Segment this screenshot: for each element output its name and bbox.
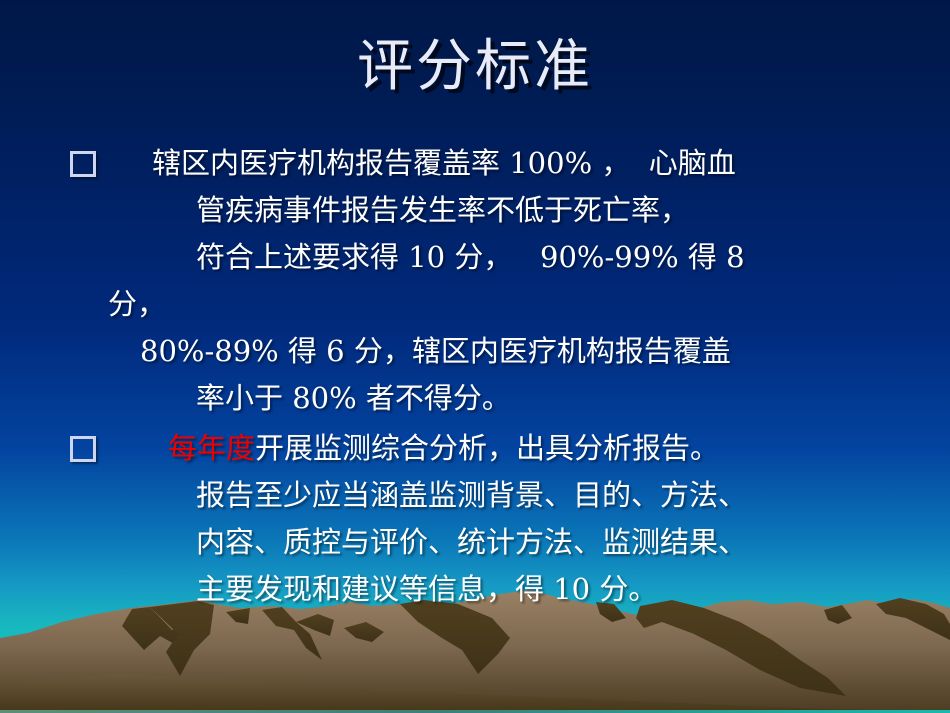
bullet-paragraph-2: 每年度开展监测综合分析，出具分析报告。 报告至少应当涵盖监测背景、目的、方法、 … (0, 425, 950, 613)
text-line: 辖区内医疗机构报告覆盖率 100% ， 心脑血 (0, 140, 950, 187)
text-line: 符合上述要求得 10 分， 90%-99% 得 8 (0, 234, 950, 281)
text-line: 每年度开展监测综合分析，出具分析报告。 (0, 425, 950, 472)
emphasis-text-red: 每年度 (168, 431, 255, 465)
bullet-2-lines: 每年度开展监测综合分析，出具分析报告。 报告至少应当涵盖监测背景、目的、方法、 … (0, 425, 950, 613)
page-title: 评分标准 (0, 38, 950, 97)
slide-body: 辖区内医疗机构报告覆盖率 100% ， 心脑血 管疾病事件报告发生率不低于死亡率… (0, 140, 950, 613)
text-line: 管疾病事件报告发生率不低于死亡率， (0, 187, 950, 234)
text-line: 分， (0, 281, 950, 328)
text-line-rest: 开展监测综合分析，出具分析报告。 (255, 431, 719, 465)
hollow-square-bullet-icon (70, 151, 96, 177)
presentation-slide: 评分标准 辖区内医疗机构报告覆盖率 100% ， 心脑血 管疾病事件报告发生率不… (0, 0, 950, 713)
hollow-square-bullet-icon (70, 436, 96, 462)
text-line: 主要发现和建议等信息，得 10 分。 (0, 566, 950, 613)
bullet-paragraph-1: 辖区内医疗机构报告覆盖率 100% ， 心脑血 管疾病事件报告发生率不低于死亡率… (0, 140, 950, 422)
text-line: 80%-89% 得 6 分，辖区内医疗机构报告覆盖 (0, 328, 950, 375)
text-line: 内容、质控与评价、统计方法、监测结果、 (0, 519, 950, 566)
text-line: 率小于 80% 者不得分。 (0, 375, 950, 422)
bullet-1-lines: 辖区内医疗机构报告覆盖率 100% ， 心脑血 管疾病事件报告发生率不低于死亡率… (0, 140, 950, 422)
text-line: 报告至少应当涵盖监测背景、目的、方法、 (0, 472, 950, 519)
